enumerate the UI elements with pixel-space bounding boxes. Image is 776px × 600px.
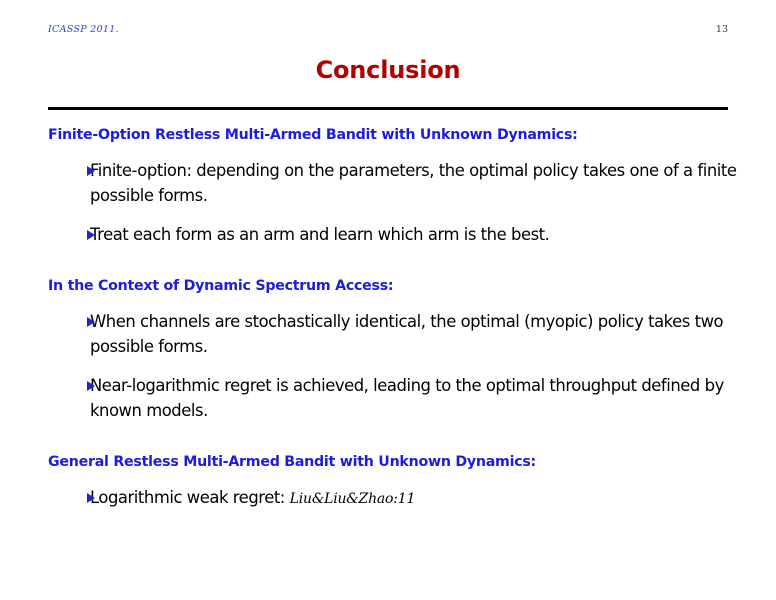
section-heading: In the Context of Dynamic Spectrum Acces… bbox=[48, 277, 738, 295]
triangle-bullet-icon bbox=[87, 381, 95, 391]
slide-body: Finite-Option Restless Multi-Armed Bandi… bbox=[48, 126, 738, 512]
bullet-list: Logarithmic weak regret: Liu&Liu&Zhao:11 bbox=[48, 485, 738, 512]
list-item-label: Finite-option: depending on the paramete… bbox=[90, 158, 738, 208]
triangle-bullet-icon bbox=[87, 230, 95, 240]
list-item-label: Logarithmic weak regret: bbox=[90, 488, 290, 507]
section-heading: General Restless Multi-Armed Bandit with… bbox=[48, 453, 738, 471]
page-number: 13 bbox=[716, 24, 728, 35]
list-item: Near-logarithmic regret is achieved, lea… bbox=[48, 373, 738, 423]
triangle-bullet-icon bbox=[87, 317, 95, 327]
title-divider bbox=[48, 107, 728, 110]
list-item: Treat each form as an arm and learn whic… bbox=[48, 222, 738, 247]
slide-header: ICASSP 2011. 13 bbox=[48, 24, 728, 40]
list-item: Logarithmic weak regret: Liu&Liu&Zhao:11 bbox=[48, 485, 738, 512]
section-spacer bbox=[48, 247, 738, 277]
list-item-label: When channels are stochastically identic… bbox=[90, 309, 738, 359]
section-block: In the Context of Dynamic Spectrum Acces… bbox=[48, 277, 738, 423]
section-heading: Finite-Option Restless Multi-Armed Bandi… bbox=[48, 126, 738, 144]
section-block: General Restless Multi-Armed Bandit with… bbox=[48, 453, 738, 512]
triangle-bullet-icon bbox=[87, 493, 95, 503]
triangle-bullet-icon bbox=[87, 166, 95, 176]
section-spacer bbox=[48, 423, 738, 453]
conference-label: ICASSP 2011. bbox=[48, 24, 119, 35]
list-item: Finite-option: depending on the paramete… bbox=[48, 158, 738, 208]
list-item-label: Near-logarithmic regret is achieved, lea… bbox=[90, 373, 738, 423]
list-item: When channels are stochastically identic… bbox=[48, 309, 738, 359]
citation-label: Liu&Liu&Zhao:11 bbox=[290, 491, 416, 507]
section-block: Finite-Option Restless Multi-Armed Bandi… bbox=[48, 126, 738, 247]
bullet-list: When channels are stochastically identic… bbox=[48, 309, 738, 423]
bullet-list: Finite-option: depending on the paramete… bbox=[48, 158, 738, 247]
slide: ICASSP 2011. 13 Conclusion Finite-Option… bbox=[0, 0, 776, 600]
list-item-label: Treat each form as an arm and learn whic… bbox=[90, 222, 738, 247]
page-title: Conclusion bbox=[0, 56, 776, 84]
